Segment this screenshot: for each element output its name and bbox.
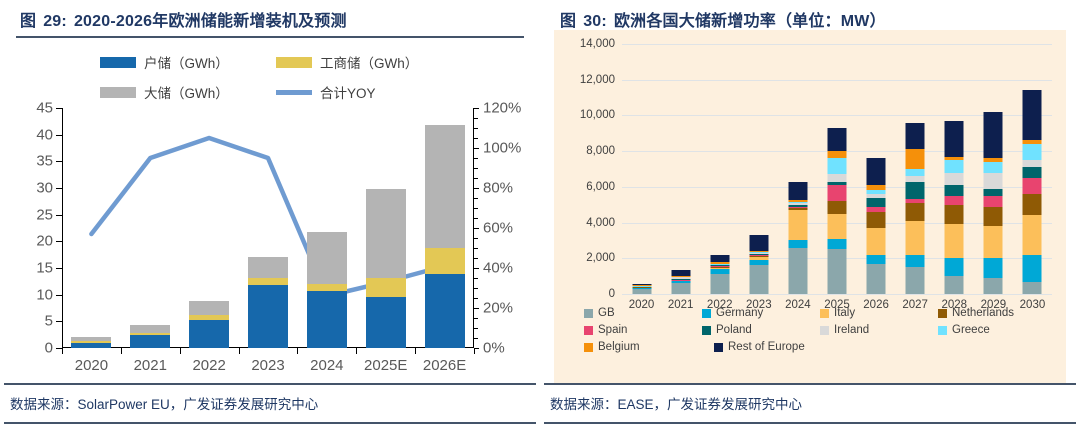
bar-segment bbox=[307, 291, 347, 348]
bar-segment bbox=[828, 128, 847, 151]
bar-segment bbox=[749, 255, 768, 256]
y-axis-tick bbox=[56, 135, 62, 136]
bar-segment bbox=[945, 196, 964, 205]
legend-swatch-icon bbox=[714, 343, 723, 352]
table-row bbox=[1023, 90, 1042, 294]
y-axis-tick-label: 8,000 bbox=[586, 145, 615, 157]
table-row bbox=[906, 123, 925, 294]
y2-axis-tick-label: 40% bbox=[483, 260, 513, 277]
y2-axis-tick bbox=[474, 298, 478, 299]
y2-axis-tick bbox=[474, 148, 479, 149]
legend-swatch-icon bbox=[938, 309, 947, 318]
table-row bbox=[828, 128, 847, 294]
figure-29-plot-area: 0510152025303540450%20%40%60%80%100%120%… bbox=[62, 108, 474, 348]
y2-axis-tick bbox=[474, 168, 478, 169]
y2-axis-tick bbox=[474, 238, 478, 239]
x-axis-tick-label: 2026E bbox=[423, 357, 466, 374]
bar-segment bbox=[906, 123, 925, 150]
bar-segment bbox=[425, 125, 465, 248]
bar-segment bbox=[945, 185, 964, 196]
legend-item[interactable]: Belgium bbox=[584, 341, 714, 353]
bar-segment bbox=[788, 200, 807, 202]
figure-29-chart: 户储（GWh）工商储（GWh）大储（GWh）合计YOY 051015202530… bbox=[0, 30, 540, 385]
legend-item[interactable]: Netherlands bbox=[938, 307, 1056, 319]
bar-segment bbox=[671, 276, 690, 279]
bar-segment bbox=[867, 264, 886, 294]
bar-segment bbox=[1023, 144, 1042, 160]
y-axis-tick bbox=[56, 321, 62, 322]
bar-segment bbox=[906, 199, 925, 203]
figure-30-legend: GBGermanyItalyNetherlandsSpainPolandIrel… bbox=[584, 307, 1056, 358]
bar-segment bbox=[945, 276, 964, 294]
y2-axis-tick bbox=[474, 208, 478, 209]
legend-label: Greece bbox=[952, 324, 990, 336]
bar-segment bbox=[749, 251, 768, 252]
bar-segment bbox=[828, 201, 847, 214]
x-axis-tick bbox=[415, 348, 416, 354]
x-axis-tick bbox=[180, 348, 181, 354]
y2-axis-tick bbox=[474, 218, 478, 219]
bar-segment bbox=[749, 260, 768, 265]
bar-segment bbox=[984, 196, 1003, 207]
figure-30-footer: 数据来源：EASE，广发证券发展研究中心 bbox=[540, 383, 1080, 424]
y-axis-tick-label: 25 bbox=[36, 206, 53, 223]
x-axis-tick bbox=[121, 348, 122, 354]
bar-segment bbox=[828, 174, 847, 181]
bar-segment bbox=[671, 280, 690, 281]
bar-segment bbox=[189, 301, 229, 316]
legend-item[interactable]: 工商储（GWh） bbox=[276, 52, 418, 72]
y-axis-tick-label: 20 bbox=[36, 233, 53, 250]
y-axis-tick bbox=[56, 268, 62, 269]
table-row bbox=[71, 337, 111, 348]
legend-swatch-icon bbox=[100, 57, 136, 68]
y2-axis-tick-label: 60% bbox=[483, 220, 513, 237]
y2-axis-tick bbox=[474, 118, 478, 119]
x-axis-tick bbox=[356, 348, 357, 354]
bar-segment bbox=[71, 341, 111, 343]
bar-segment bbox=[788, 202, 807, 203]
bar-segment bbox=[788, 203, 807, 205]
y2-axis-tick bbox=[474, 248, 478, 249]
bar-segment bbox=[710, 262, 729, 264]
figure-29-panel: 图 29: 2020-2026年欧洲储能新增装机及预测 户储（GWh）工商储（G… bbox=[0, 0, 540, 424]
bar-segment bbox=[710, 265, 729, 266]
bar-segment bbox=[749, 235, 768, 251]
y-axis-tick-label: 12,000 bbox=[580, 74, 615, 86]
table-row bbox=[307, 232, 347, 348]
bar-segment bbox=[945, 224, 964, 258]
legend-label: 工商储（GWh） bbox=[320, 52, 418, 72]
table-row bbox=[984, 112, 1003, 294]
legend-label: Italy bbox=[834, 307, 855, 319]
y-axis-tick bbox=[56, 108, 62, 109]
y2-axis-tick bbox=[474, 108, 479, 109]
y-axis-tick bbox=[56, 241, 62, 242]
bar-segment bbox=[984, 258, 1003, 278]
two-chart-report-page: 图 29: 2020-2026年欧洲储能新增装机及预测 户储（GWh）工商储（G… bbox=[0, 0, 1080, 424]
bar-segment bbox=[710, 255, 729, 262]
bar-segment bbox=[710, 274, 729, 294]
bar-segment bbox=[788, 208, 807, 210]
bar-segment bbox=[425, 248, 465, 275]
y-axis-tick-label: 14,000 bbox=[580, 38, 615, 50]
y-axis-tick-label: 15 bbox=[36, 260, 53, 277]
y-axis-tick-label: 4,000 bbox=[586, 217, 615, 229]
y-axis-tick-label: 10 bbox=[36, 286, 53, 303]
bar-segment bbox=[189, 320, 229, 348]
bar-segment bbox=[984, 226, 1003, 258]
legend-item[interactable]: 合计YOY bbox=[276, 82, 376, 102]
bar-segment bbox=[945, 258, 964, 276]
bar-segment bbox=[749, 254, 768, 255]
y-axis-tick-label: 2,000 bbox=[586, 252, 615, 264]
legend-item[interactable]: Greece bbox=[938, 324, 1056, 336]
legend-label: Netherlands bbox=[952, 307, 1014, 319]
bar-segment bbox=[828, 239, 847, 250]
y2-axis-tick-label: 0% bbox=[483, 340, 505, 357]
figure-30-chart: 02,0004,0006,0008,00010,00012,00014,0002… bbox=[554, 30, 1066, 385]
x-axis-tick-label: 2024 bbox=[310, 357, 343, 374]
y-axis-tick-label: 5 bbox=[45, 313, 53, 330]
bar-segment bbox=[984, 189, 1003, 196]
x-axis-tick-label: 2023 bbox=[251, 357, 284, 374]
y2-axis-tick bbox=[474, 138, 478, 139]
bar-segment bbox=[749, 252, 768, 253]
x-axis-tick-label: 2025E bbox=[364, 357, 407, 374]
bar-segment bbox=[788, 182, 807, 200]
legend-item[interactable]: Germany bbox=[702, 307, 820, 319]
bar-segment bbox=[945, 205, 964, 225]
bar-segment bbox=[749, 265, 768, 294]
bar-segment bbox=[984, 173, 1003, 189]
legend-item[interactable]: GB bbox=[584, 307, 702, 319]
bar-segment bbox=[906, 182, 925, 200]
y2-axis-tick bbox=[474, 158, 478, 159]
bar-segment bbox=[906, 169, 925, 176]
figure-30-label: 图 bbox=[560, 7, 576, 31]
bar-segment bbox=[632, 284, 651, 285]
y-axis-tick-label: 45 bbox=[36, 100, 53, 117]
bar-segment bbox=[307, 284, 347, 291]
legend-label: Spain bbox=[598, 324, 627, 336]
figure-30-panel: 图 30: 欧洲各国大储新增功率（单位：MW） 02,0004,0006,000… bbox=[540, 0, 1080, 424]
bar-segment bbox=[906, 255, 925, 268]
bar-segment bbox=[788, 240, 807, 247]
table-row bbox=[248, 257, 288, 348]
y-axis-tick bbox=[56, 215, 62, 216]
x-axis-tick bbox=[62, 348, 63, 354]
y2-axis-tick bbox=[474, 328, 478, 329]
bar-segment bbox=[248, 257, 288, 278]
table-row bbox=[788, 182, 807, 294]
x-axis-tick bbox=[474, 348, 475, 354]
legend-label: Belgium bbox=[598, 341, 640, 353]
bar-segment bbox=[366, 189, 406, 278]
bar-segment bbox=[130, 325, 170, 334]
gridline bbox=[622, 80, 1052, 81]
bar-segment bbox=[788, 205, 807, 206]
bar-segment bbox=[749, 256, 768, 257]
legend-item[interactable]: Italy bbox=[820, 307, 938, 319]
bar-segment bbox=[867, 228, 886, 255]
bar-segment bbox=[867, 158, 886, 185]
bar-segment bbox=[710, 264, 729, 265]
legend-label: 合计YOY bbox=[320, 82, 376, 102]
bar-segment bbox=[1023, 140, 1042, 144]
bar-segment bbox=[248, 278, 288, 285]
table-row bbox=[867, 158, 886, 294]
bar-segment bbox=[710, 267, 729, 268]
legend-label: GB bbox=[598, 307, 615, 319]
bar-segment bbox=[984, 278, 1003, 294]
bar-segment bbox=[867, 255, 886, 264]
figure-29-label: 图 bbox=[20, 7, 36, 31]
bar-segment bbox=[189, 315, 229, 319]
bar-segment bbox=[867, 190, 886, 194]
bar-segment bbox=[366, 278, 406, 297]
figure-29-legend: 户储（GWh）工商储（GWh）大储（GWh）合计YOY bbox=[100, 52, 500, 102]
figure-29-footer: 数据来源：SolarPower EU，广发证券发展研究中心 bbox=[0, 383, 540, 424]
gridline bbox=[622, 44, 1052, 45]
bar-segment bbox=[867, 212, 886, 228]
y2-axis-tick bbox=[474, 308, 479, 309]
bar-segment bbox=[1023, 178, 1042, 194]
legend-label: Germany bbox=[716, 307, 763, 319]
y2-axis-tick bbox=[474, 228, 479, 229]
legend-label: 大储（GWh） bbox=[144, 82, 229, 102]
x-axis-tick bbox=[239, 348, 240, 354]
bar-segment bbox=[906, 221, 925, 255]
legend-swatch-icon bbox=[584, 326, 593, 335]
bar-segment bbox=[984, 207, 1003, 227]
legend-swatch-icon bbox=[820, 326, 829, 335]
bar-segment bbox=[788, 207, 807, 209]
bar-segment bbox=[71, 337, 111, 341]
bar-segment bbox=[828, 151, 847, 158]
y2-axis-tick bbox=[474, 198, 478, 199]
bar-segment bbox=[788, 210, 807, 240]
bar-segment bbox=[1023, 282, 1042, 295]
bar-segment bbox=[984, 162, 1003, 173]
bar-segment bbox=[828, 185, 847, 201]
bar-segment bbox=[632, 287, 651, 288]
table-row bbox=[749, 235, 768, 294]
y2-axis-tick bbox=[474, 258, 478, 259]
bar-segment bbox=[906, 267, 925, 294]
figure-29-source: 数据来源：SolarPower EU，广发证券发展研究中心 bbox=[2, 385, 538, 422]
bar-segment bbox=[710, 264, 729, 265]
bar-segment bbox=[828, 214, 847, 239]
bar-segment bbox=[671, 283, 690, 294]
bar-segment bbox=[307, 232, 347, 284]
legend-label: Ireland bbox=[834, 324, 869, 336]
bar-segment bbox=[906, 203, 925, 221]
legend-swatch-icon bbox=[702, 326, 711, 335]
bar-segment bbox=[828, 158, 847, 174]
y2-axis-tick bbox=[474, 188, 479, 189]
legend-label: Rest of Europe bbox=[728, 341, 805, 353]
legend-swatch-icon bbox=[938, 326, 947, 335]
legend-swatch-icon bbox=[584, 309, 593, 318]
bar-segment bbox=[710, 267, 729, 269]
bar-segment bbox=[867, 198, 886, 207]
y-axis-tick-label: 0 bbox=[609, 288, 615, 300]
bar-segment bbox=[1023, 255, 1042, 282]
y-axis-tick-label: 40 bbox=[36, 126, 53, 143]
legend-item[interactable]: Rest of Europe bbox=[714, 341, 844, 353]
figure-29-number: 29: bbox=[43, 13, 67, 31]
bar-segment bbox=[710, 266, 729, 267]
x-axis-tick-label: 2020 bbox=[75, 357, 108, 374]
legend-item[interactable]: Ireland bbox=[820, 324, 938, 336]
y2-axis-tick bbox=[474, 278, 478, 279]
bar-segment bbox=[906, 176, 925, 181]
figure-30-number: 30: bbox=[583, 13, 607, 31]
legend-item[interactable]: 户储（GWh） bbox=[100, 52, 276, 72]
bar-segment bbox=[710, 269, 729, 274]
table-row bbox=[632, 284, 651, 294]
y2-axis-tick bbox=[474, 288, 478, 289]
y-axis-tick-label: 10,000 bbox=[580, 109, 615, 121]
y-axis-tick-label: 6,000 bbox=[586, 181, 615, 193]
bar-segment bbox=[248, 285, 288, 348]
legend-swatch-icon bbox=[820, 309, 829, 318]
legend-swatch-icon bbox=[276, 57, 312, 68]
bar-segment bbox=[945, 121, 964, 157]
bar-segment bbox=[984, 158, 1003, 162]
bar-segment bbox=[867, 194, 886, 198]
bar-segment bbox=[1023, 90, 1042, 140]
legend-swatch-icon bbox=[100, 87, 136, 98]
legend-swatch-icon bbox=[584, 343, 593, 352]
figure-30-plot-area: 02,0004,0006,0008,00010,00012,00014,0002… bbox=[622, 44, 1052, 294]
bar-segment bbox=[1023, 167, 1042, 178]
bar-segment bbox=[749, 257, 768, 260]
y2-axis-tick bbox=[474, 128, 478, 129]
y2-axis-tick bbox=[474, 178, 478, 179]
bar-segment bbox=[671, 270, 690, 275]
bar-segment bbox=[671, 281, 690, 283]
x-axis-tick-label: 2022 bbox=[192, 357, 225, 374]
bar-segment bbox=[632, 289, 651, 294]
table-row bbox=[425, 125, 465, 348]
legend-item[interactable]: 大储（GWh） bbox=[100, 82, 276, 102]
table-row bbox=[945, 121, 964, 294]
bar-segment bbox=[984, 112, 1003, 158]
y2-axis-tick bbox=[474, 318, 478, 319]
bar-segment bbox=[749, 253, 768, 254]
bar-segment bbox=[130, 335, 170, 348]
y-axis-tick-label: 30 bbox=[36, 180, 53, 197]
bar-segment bbox=[788, 248, 807, 294]
legend-label: 户储（GWh） bbox=[144, 52, 229, 72]
table-row bbox=[671, 270, 690, 294]
y2-axis-tick bbox=[474, 338, 478, 339]
bar-segment bbox=[828, 249, 847, 294]
y-axis-tick bbox=[56, 188, 62, 189]
bar-segment bbox=[945, 173, 964, 186]
y2-axis-tick-label: 100% bbox=[483, 140, 521, 157]
y2-axis-tick-label: 80% bbox=[483, 180, 513, 197]
bar-segment bbox=[906, 149, 925, 169]
y2-axis-tick-label: 20% bbox=[483, 300, 513, 317]
legend-swatch-icon bbox=[276, 90, 312, 95]
table-row bbox=[130, 325, 170, 348]
bar-segment bbox=[867, 207, 886, 212]
legend-swatch-icon bbox=[702, 309, 711, 318]
bar-segment bbox=[828, 182, 847, 186]
y2-axis-tick bbox=[474, 268, 479, 269]
x-axis-tick bbox=[297, 348, 298, 354]
gridline bbox=[622, 294, 1052, 295]
bar-segment bbox=[945, 160, 964, 173]
bar-segment bbox=[632, 287, 651, 288]
bar-segment bbox=[366, 297, 406, 348]
table-row bbox=[710, 255, 729, 294]
table-row bbox=[189, 301, 229, 348]
y2-axis-tick-label: 120% bbox=[483, 100, 521, 117]
bar-segment bbox=[71, 343, 111, 348]
y-axis-tick bbox=[56, 295, 62, 296]
x-axis-tick-label: 2021 bbox=[134, 357, 167, 374]
figure-30-source: 数据来源：EASE，广发证券发展研究中心 bbox=[542, 385, 1078, 422]
y-axis-tick-label: 35 bbox=[36, 153, 53, 170]
bar-segment bbox=[1023, 194, 1042, 215]
legend-item[interactable]: Spain bbox=[584, 324, 702, 336]
y-axis-tick-label: 0 bbox=[45, 340, 53, 357]
legend-item[interactable]: Poland bbox=[702, 324, 820, 336]
y-axis-tick bbox=[56, 161, 62, 162]
bar-segment bbox=[945, 157, 964, 161]
legend-label: Poland bbox=[716, 324, 752, 336]
table-row bbox=[366, 189, 406, 348]
bar-segment bbox=[425, 274, 465, 348]
bar-segment bbox=[1023, 160, 1042, 167]
figure-30-title-text: 欧洲各国大储新增功率（单位：MW） bbox=[614, 7, 886, 31]
figure-29-title-text: 2020-2026年欧洲储能新增装机及预测 bbox=[74, 7, 347, 31]
bar-segment bbox=[867, 185, 886, 190]
bar-segment bbox=[130, 333, 170, 335]
bar-segment bbox=[1023, 215, 1042, 254]
